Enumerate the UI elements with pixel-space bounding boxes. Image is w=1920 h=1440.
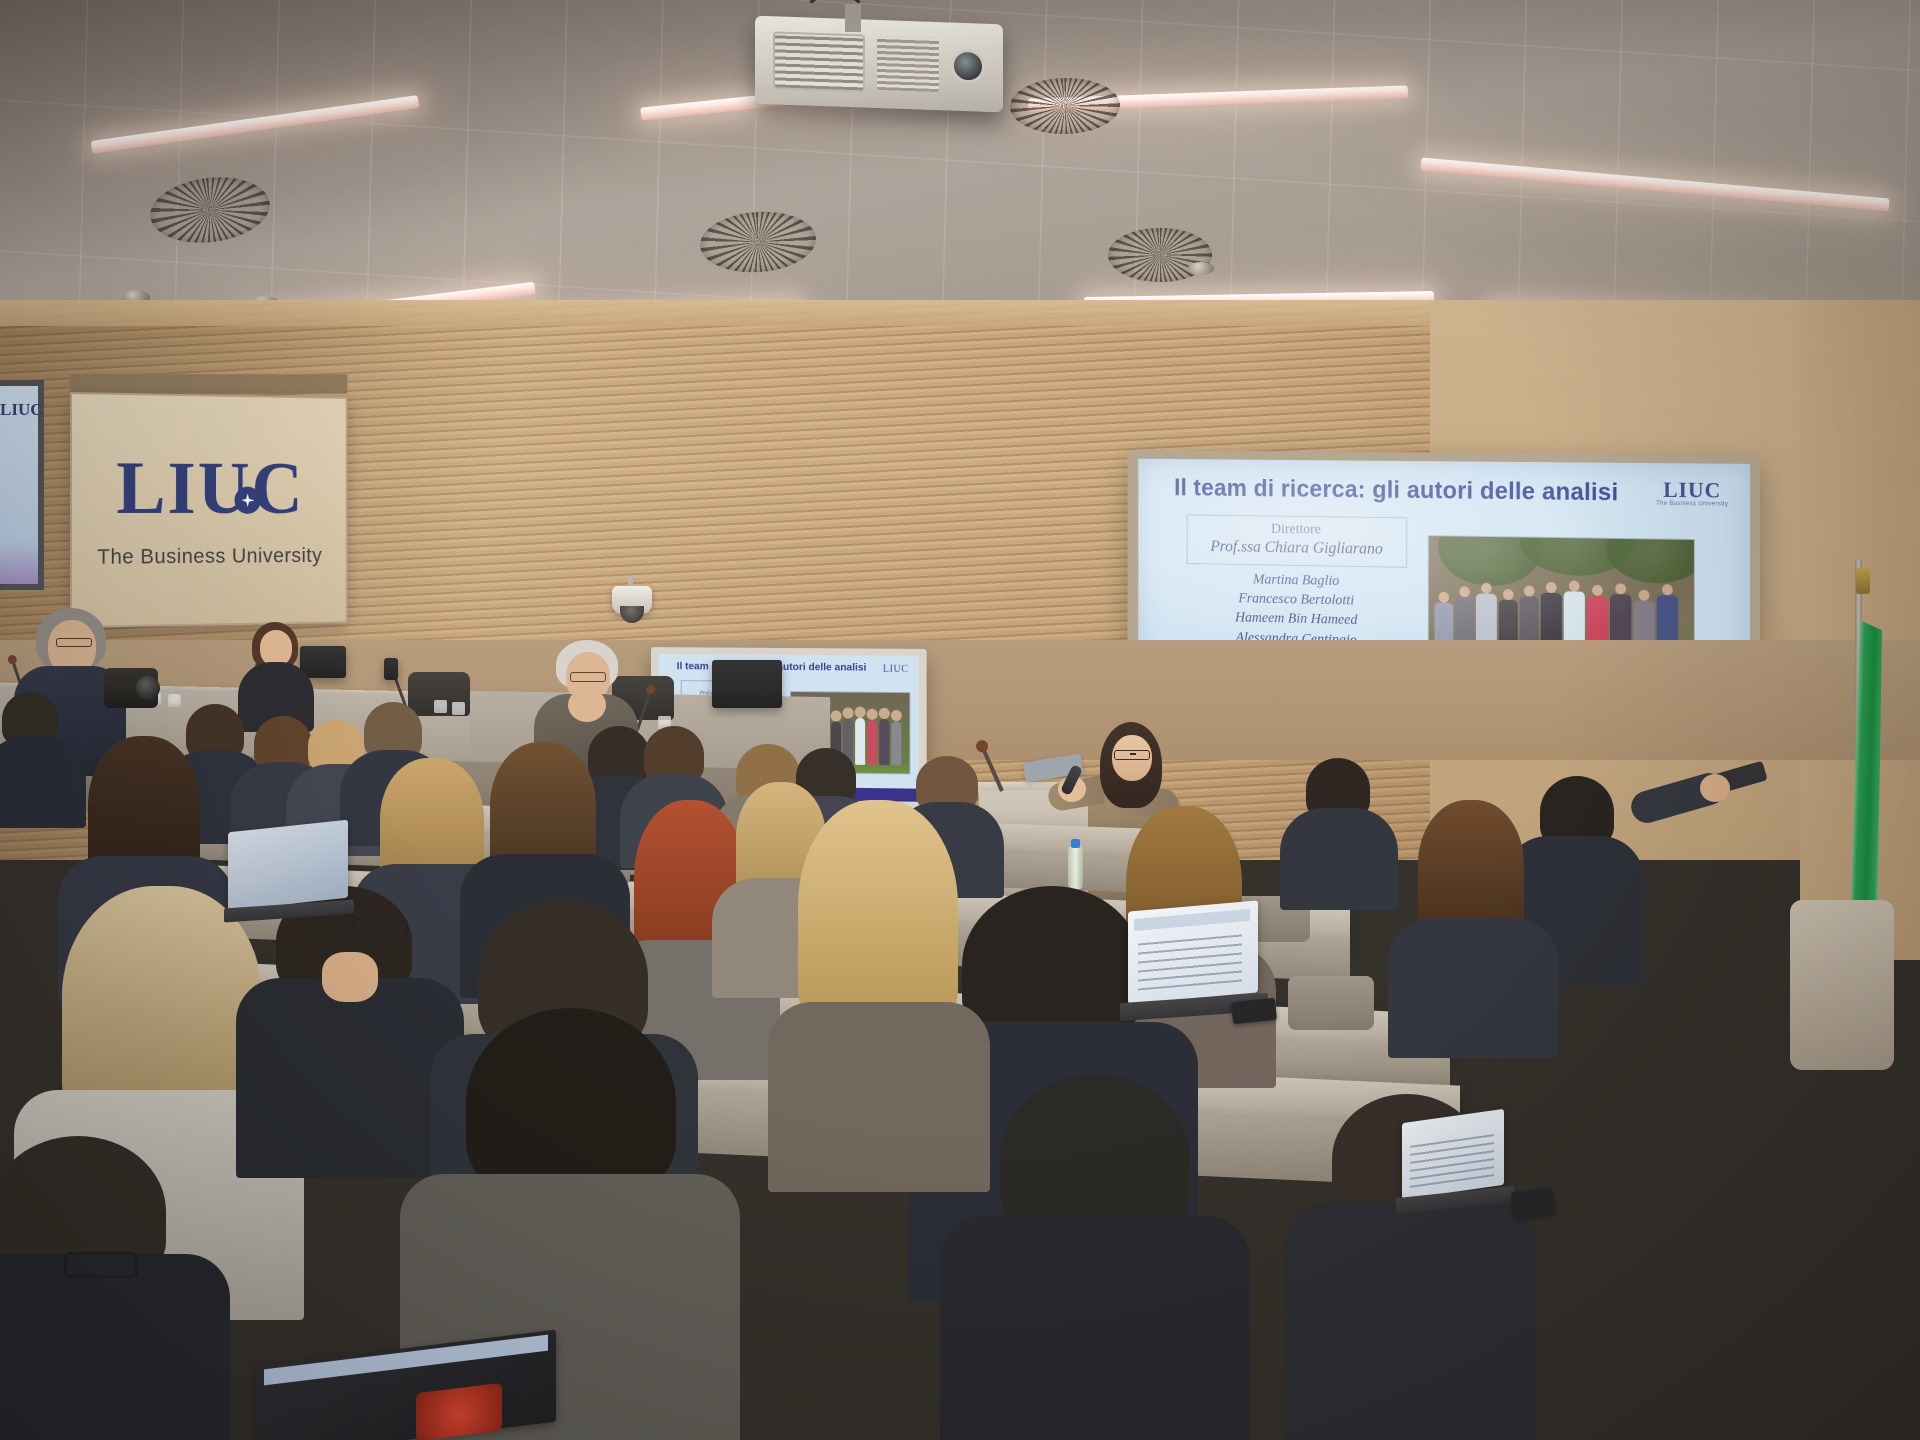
panel-person-2-head [260,630,292,666]
slide-liuc-logo: LIUC The Business University [1656,479,1728,508]
flag-finial [1856,568,1870,594]
photo-person [867,720,877,765]
shoulder-bag [1790,900,1894,1070]
audience-seat-4[interactable] [1288,976,1374,1030]
laptop-1-screen [228,820,348,911]
photo-person [879,719,889,765]
liuc-wordmark: LIUC [72,450,346,526]
slide-logo-tagline: The Business University [1656,501,1728,508]
audience-person-torso [0,1254,230,1440]
monitor-logo: LIUC [883,664,909,675]
panel-person-1-glasses [56,638,92,647]
audience-person-torso [1388,918,1558,1058]
director-name: Prof.ssa Chiara Gigliarano [1191,537,1402,560]
smoke-detector-3 [1188,262,1214,275]
panel-person-3-hands [568,688,606,722]
audience-person-torso [1280,808,1398,910]
liuc-wall-sign: LIUC The Business University [70,392,347,628]
lecture-hall-photo: LIUC The Business University LIUC Il tea… [0,0,1920,1440]
director-box: Direttore Prof.ssa Chiara Gigliarano [1187,514,1407,567]
audience-person-torso [0,736,86,828]
audience-person-hair [466,1008,676,1198]
speaker-glasses [1114,750,1150,760]
audience-person-torso [1286,1202,1536,1440]
slide-title: Il team di ricerca: gli autori delle ana… [1174,474,1618,507]
audience-person-glasses [64,1252,138,1278]
photo-person [891,721,901,765]
left-edge-display-logo: LIUC [0,400,43,420]
projector-lens [951,49,985,84]
wall-sign-top-edge [70,374,347,394]
left-edge-display: LIUC [0,380,44,590]
ceiling-projector [755,16,1003,113]
projector-vent-grille-2 [877,36,939,92]
laptop-2-document-lines [1138,927,1242,990]
audience-person-torso [940,1216,1250,1440]
panel-person-3-glasses [570,672,606,682]
audience-person-hair [798,800,958,1030]
water-bottle [1068,846,1083,890]
water-glass-4 [452,702,465,715]
audience-person-glasses [352,918,408,940]
dslr-camera-lens [136,676,160,700]
panel-desk-monitor-1 [300,646,346,678]
audience-person-hand [322,952,378,1002]
liuc-tagline: The Business University [72,544,346,570]
audience-person-torso [768,1002,990,1192]
water-glass-2 [168,694,181,707]
water-glass-3 [434,700,447,713]
phone-on-desk-2[interactable] [1510,1187,1555,1219]
panel-desk-monitor-3 [384,658,398,680]
panel-desk-monitor-2 [712,660,782,708]
tree-foliage-3 [1606,535,1695,584]
laptop-3-video-thumb [416,1383,502,1440]
photo-person [855,718,865,765]
audience-person-hand [1700,774,1730,802]
slide-logo-word: LIUC [1656,479,1728,502]
phone-on-desk[interactable] [1231,998,1277,1024]
